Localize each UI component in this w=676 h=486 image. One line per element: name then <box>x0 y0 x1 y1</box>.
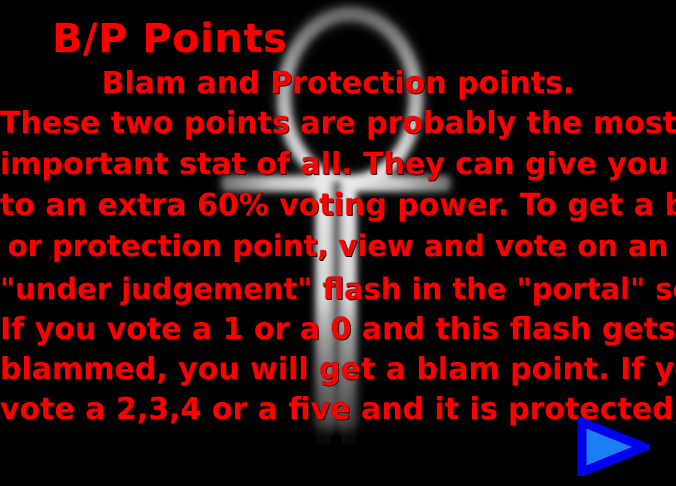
next-button[interactable] <box>576 418 650 476</box>
flash-slide-screen: B/P Points Blam and Protection points. T… <box>0 0 676 486</box>
slide-text-layer: B/P Points Blam and Protection points. T… <box>0 0 676 486</box>
body-line-5: or protection point, view and vote on an <box>0 229 676 263</box>
body-line-9: vote a 2,3,4 or a five and it is protect… <box>0 392 676 427</box>
body-line-7: If you vote a 1 or a 0 and this flash ge… <box>0 312 676 347</box>
body-line-6: "under judgement" flash in the "portal" … <box>0 272 676 306</box>
body-line-2: These two points are probably the most <box>0 106 676 141</box>
body-line-1: Blam and Protection points. <box>0 66 676 101</box>
play-arrow-icon[interactable] <box>582 422 644 472</box>
body-line-3: important stat of all. They can give you… <box>0 147 676 182</box>
body-line-8: blammed, you will get a blam point. If y… <box>0 352 676 387</box>
page-title: B/P Points <box>52 16 287 62</box>
stray-apostrophe-mark: ' <box>48 252 52 271</box>
body-line-4: to an extra 60% voting power. To get a b… <box>0 188 676 223</box>
